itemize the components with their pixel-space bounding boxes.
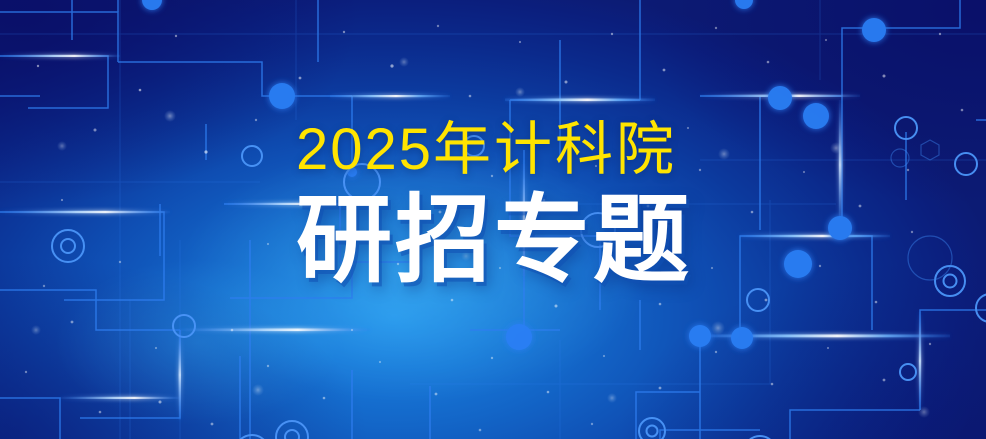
banner-subtitle-year: 2025年计科院 bbox=[296, 120, 692, 179]
promo-banner: 2025年计科院 研招专题 bbox=[0, 0, 986, 439]
year-suffix-label: 年计科院 bbox=[433, 117, 677, 182]
banner-text-block: 2025年计科院 研招专题 bbox=[296, 120, 692, 289]
banner-main-title: 研招专题 bbox=[296, 193, 692, 289]
year-number: 2025 bbox=[296, 117, 433, 182]
